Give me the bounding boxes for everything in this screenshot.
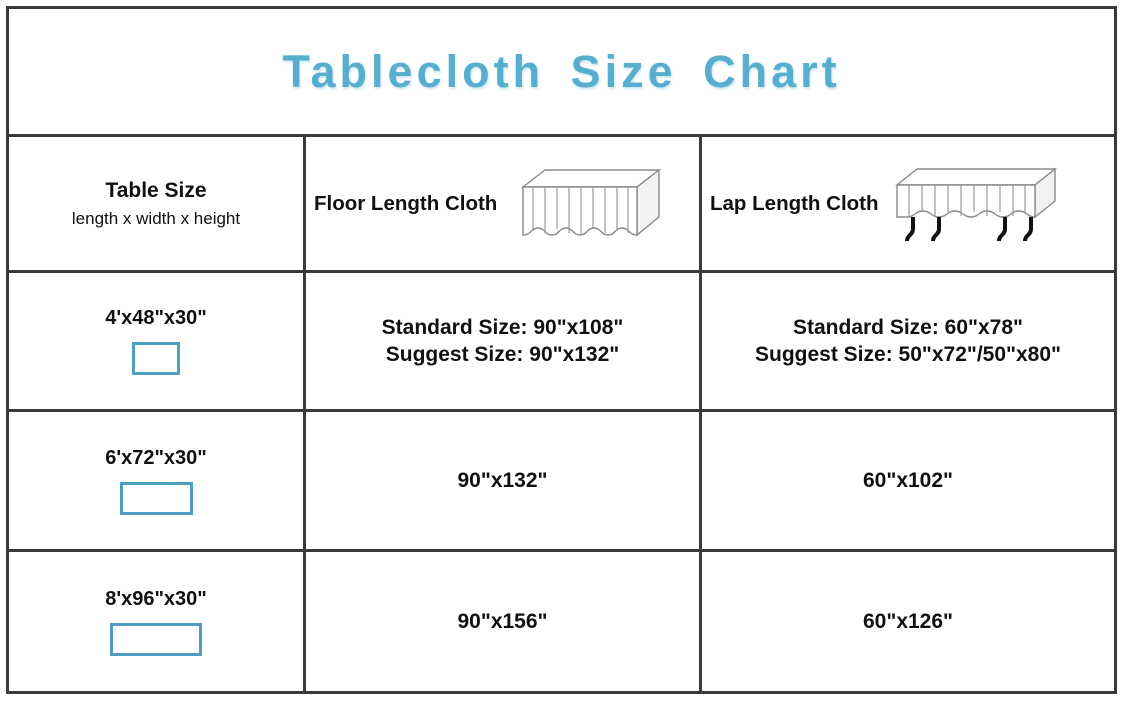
lap-length-size-cell: 60"x126" [702,552,1114,692]
table-size-value: 8'x96"x30" [105,588,207,611]
standard-size-line: Standard Size: 60"x78" [793,314,1023,341]
tablecloth-size-chart: Tablecloth Size Chart Table Size length … [6,6,1117,694]
floor-length-header-label: Floor Length Cloth [314,192,497,216]
table-size-value: 6'x72"x30" [105,447,207,470]
table-proportion-rect [110,623,202,656]
floor-length-size-cell: 90"x156" [306,552,702,692]
table-size-header-sub: length x width x height [72,208,240,229]
standard-size-line: Standard Size: 90"x108" [382,314,624,341]
table-size-header-main: Table Size [105,178,206,204]
page-title: Tablecloth Size Chart [282,46,840,98]
table-row: 6'x72"x30" [9,412,306,552]
table-row: 8'x96"x30" [9,552,306,692]
chart-title-row: Tablecloth Size Chart [9,9,1114,137]
column-header-floor-length: Floor Length Cloth [306,137,702,273]
floor-length-size-cell: 90"x132" [306,412,702,552]
suggest-size-line: Suggest Size: 90"x132" [386,341,620,368]
table-row: 4'x48"x30" [9,273,306,412]
table-proportion-rect [132,342,180,375]
floor-length-size-cell: Standard Size: 90"x108" Suggest Size: 90… [306,273,702,412]
lap-length-size-cell: 60"x102" [702,412,1114,552]
size-value: 90"x156" [458,608,548,635]
suggest-size-line: Suggest Size: 50"x72"/50"x80" [755,341,1061,368]
size-value: 60"x126" [863,608,953,635]
lap-length-header-label: Lap Length Cloth [710,192,879,216]
floor-length-tablecloth-icon [501,165,661,243]
lap-length-tablecloth-icon [883,163,1063,245]
table-size-value: 4'x48"x30" [105,307,207,330]
size-value: 60"x102" [863,467,953,494]
size-table: Table Size length x width x height Floor… [9,137,1114,692]
lap-length-size-cell: Standard Size: 60"x78" Suggest Size: 50"… [702,273,1114,412]
size-value: 90"x132" [458,467,548,494]
column-header-table-size: Table Size length x width x height [9,137,306,273]
table-proportion-rect [120,482,193,515]
column-header-lap-length: Lap Length Cloth [702,137,1114,273]
